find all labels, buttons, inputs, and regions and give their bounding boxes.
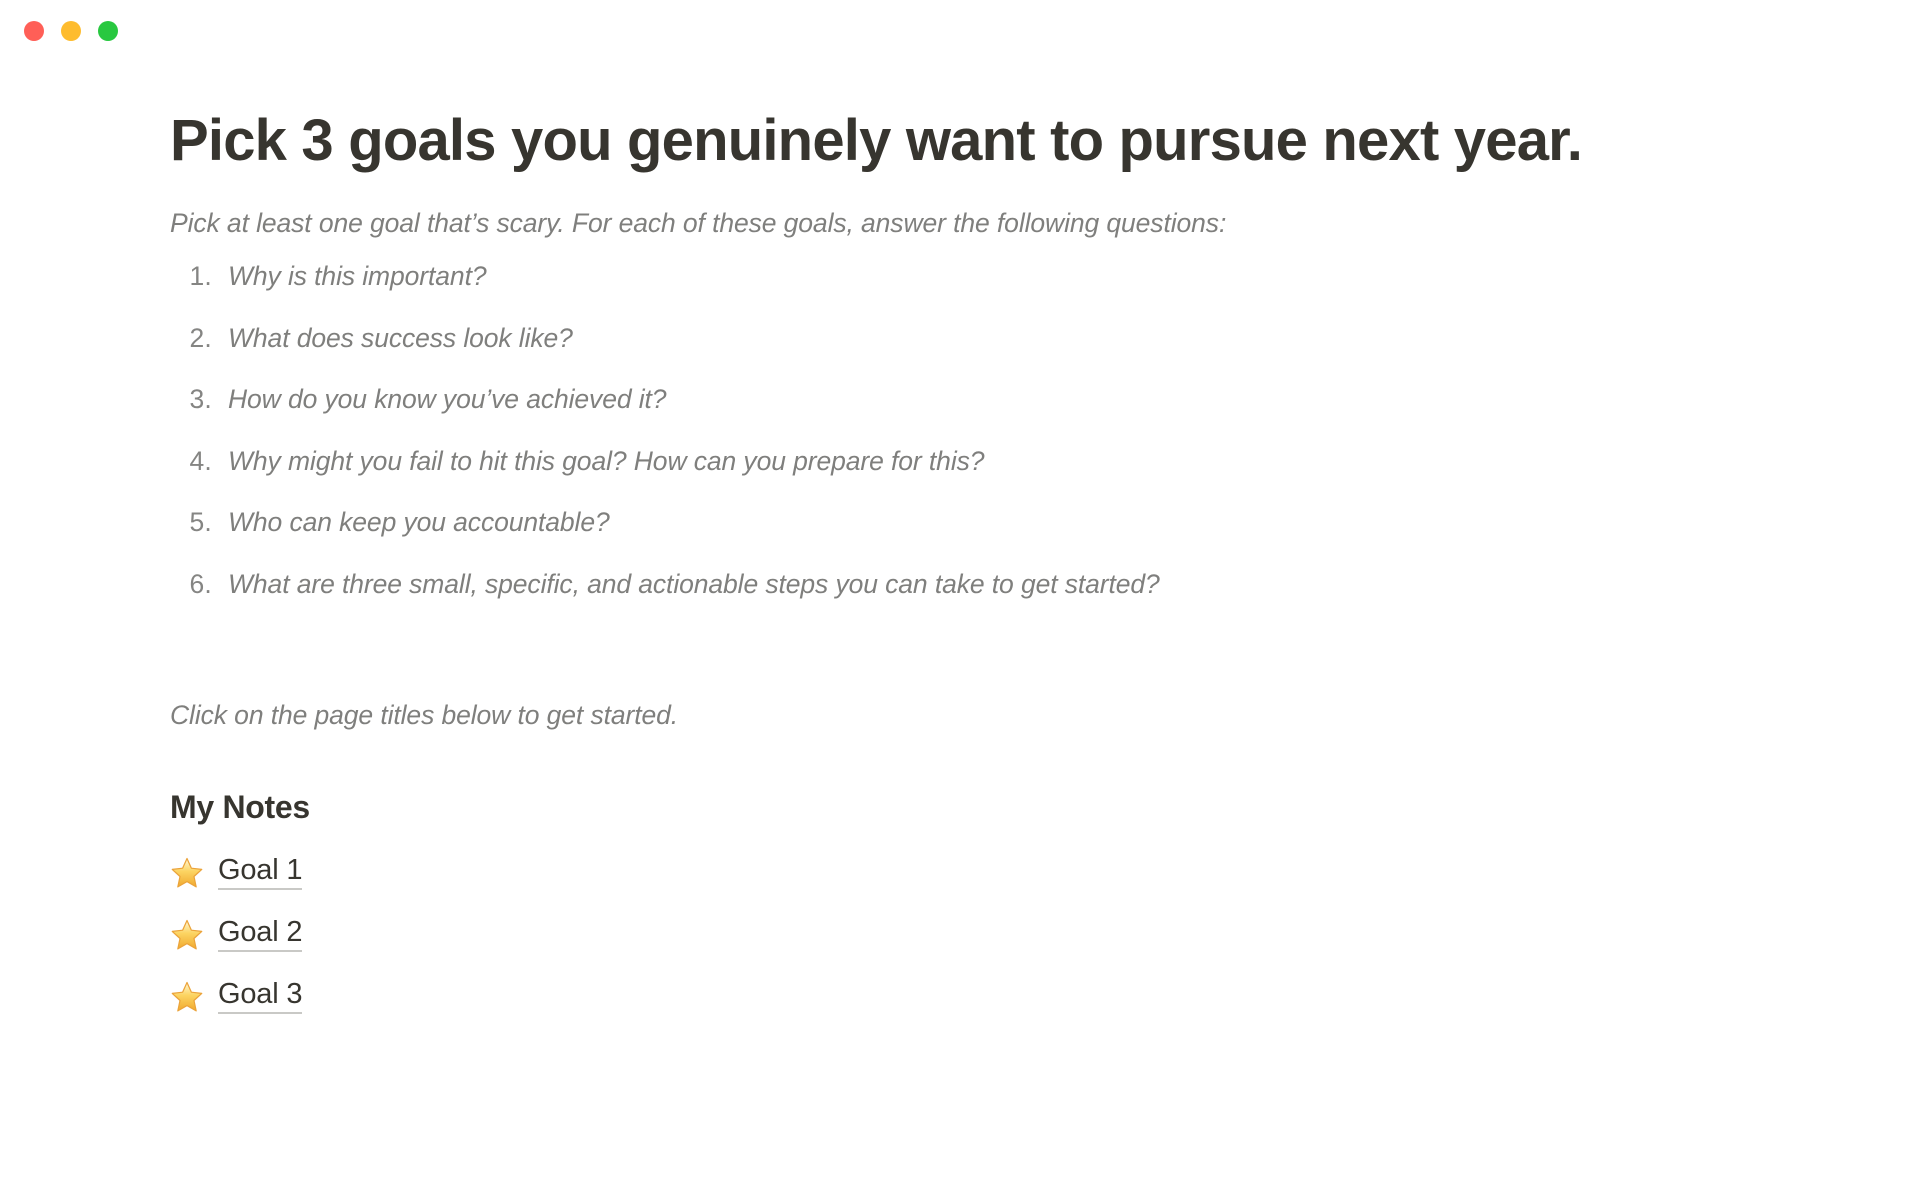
minimize-window-button[interactable]: [61, 21, 81, 41]
list-item-number: 4.: [170, 448, 228, 475]
list-item: 3. How do you know you’ve achieved it?: [170, 386, 1860, 413]
goal-link[interactable]: Goal 1: [218, 856, 302, 890]
star-icon: [170, 856, 204, 890]
document-content: Pick 3 goals you genuinely want to pursu…: [0, 62, 1920, 1016]
list-item-number: 2.: [170, 325, 228, 352]
close-window-button[interactable]: [24, 21, 44, 41]
traffic-light-group: [24, 21, 118, 41]
list-item: 2. What does success look like?: [170, 325, 1860, 352]
list-item-text: What are three small, specific, and acti…: [228, 571, 1160, 598]
list-item: Goal 2: [170, 916, 1860, 954]
document-subtitle: Pick at least one goal that’s scary. For…: [170, 173, 1860, 242]
goal-link[interactable]: Goal 2: [218, 918, 302, 952]
list-item-text: What does success look like?: [228, 325, 573, 352]
goal-link-list: Goal 1 Goal 2: [170, 826, 1860, 1016]
question-list: 1. Why is this important? 2. What does s…: [170, 241, 1860, 597]
list-item-text: How do you know you’ve achieved it?: [228, 386, 666, 413]
list-item-text: Why is this important?: [228, 263, 486, 290]
list-item-text: Why might you fail to hit this goal? How…: [228, 448, 984, 475]
star-icon: [170, 980, 204, 1014]
window-titlebar: [0, 0, 1920, 62]
list-item-number: 1.: [170, 263, 228, 290]
maximize-window-button[interactable]: [98, 21, 118, 41]
star-icon: [170, 918, 204, 952]
section-heading-my-notes: My Notes: [170, 731, 1860, 826]
list-item-number: 3.: [170, 386, 228, 413]
list-item: Goal 3: [170, 978, 1860, 1016]
list-item: Goal 1: [170, 854, 1860, 892]
list-item-number: 6.: [170, 571, 228, 598]
goal-link[interactable]: Goal 3: [218, 980, 302, 1014]
list-item: 5. Who can keep you accountable?: [170, 509, 1860, 536]
list-item: 6. What are three small, specific, and a…: [170, 571, 1860, 598]
list-item: 1. Why is this important?: [170, 263, 1860, 290]
list-item: 4. Why might you fail to hit this goal? …: [170, 448, 1860, 475]
list-item-text: Who can keep you accountable?: [228, 509, 610, 536]
get-started-hint: Click on the page titles below to get st…: [170, 632, 1860, 731]
list-item-number: 5.: [170, 509, 228, 536]
page-title: Pick 3 goals you genuinely want to pursu…: [170, 62, 1860, 173]
